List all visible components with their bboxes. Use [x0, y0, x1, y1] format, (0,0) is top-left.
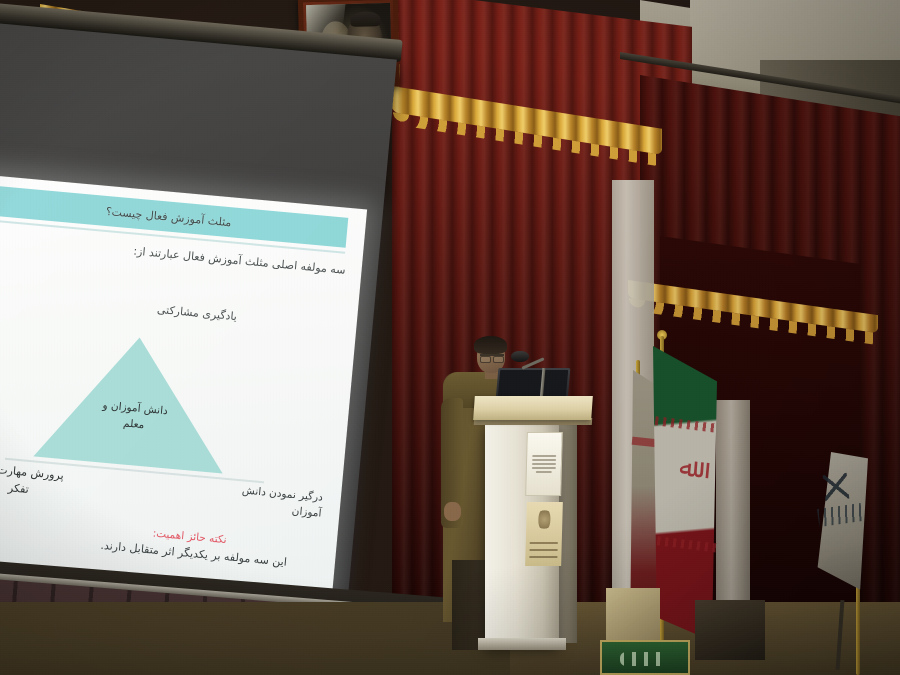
flag-iran	[653, 346, 717, 641]
rug-pattern	[620, 652, 666, 666]
speaker-hand	[444, 502, 461, 521]
slide-apex-label: یادگیری مشارکتی	[156, 303, 237, 323]
projected-slide: مثلث آموزش فعال چیست؟ سه مولفه اصلی مثلث…	[0, 173, 367, 599]
poster-portrait-figure	[538, 508, 552, 531]
flag-iran-emblem: ﷲ	[672, 451, 701, 486]
projection-screen: مثلث آموزش فعال چیست؟ سه مولفه اصلی مثلث…	[0, 6, 402, 652]
slide-corner-right-label: درگیر نمودن دانش آموزان	[201, 480, 323, 522]
podium-poster	[525, 502, 563, 566]
speaker-glasses	[480, 354, 504, 361]
stage-block-dark	[695, 600, 765, 660]
portrait-turban	[350, 11, 381, 27]
sign-text-line	[532, 463, 557, 465]
poster-text-block	[529, 542, 558, 561]
sign-text-line	[536, 471, 552, 473]
presentation-photo-scene: مثلث آموزش فعال چیست؟ سه مولفه اصلی مثلث…	[0, 0, 900, 675]
sign-text-line	[532, 455, 557, 457]
slide-note-heading: نکته حائز اهمیت:	[152, 527, 227, 546]
podium-top-surface	[473, 396, 593, 420]
sign-text-line	[532, 467, 557, 469]
banner-logo-icon	[823, 473, 850, 501]
speaker-hair	[474, 336, 507, 354]
podium-notice-sheet	[525, 432, 563, 496]
slide-note-body: این سه مولفه بر یکدیگر اثر متقابل دارند.	[7, 530, 287, 568]
microphone-head	[511, 351, 529, 362]
stage-floor-shadow	[0, 602, 510, 675]
podium-base	[478, 638, 566, 650]
sign-text-line	[532, 459, 557, 461]
laptop-screen	[498, 370, 568, 397]
stage-block-tan	[606, 588, 660, 646]
